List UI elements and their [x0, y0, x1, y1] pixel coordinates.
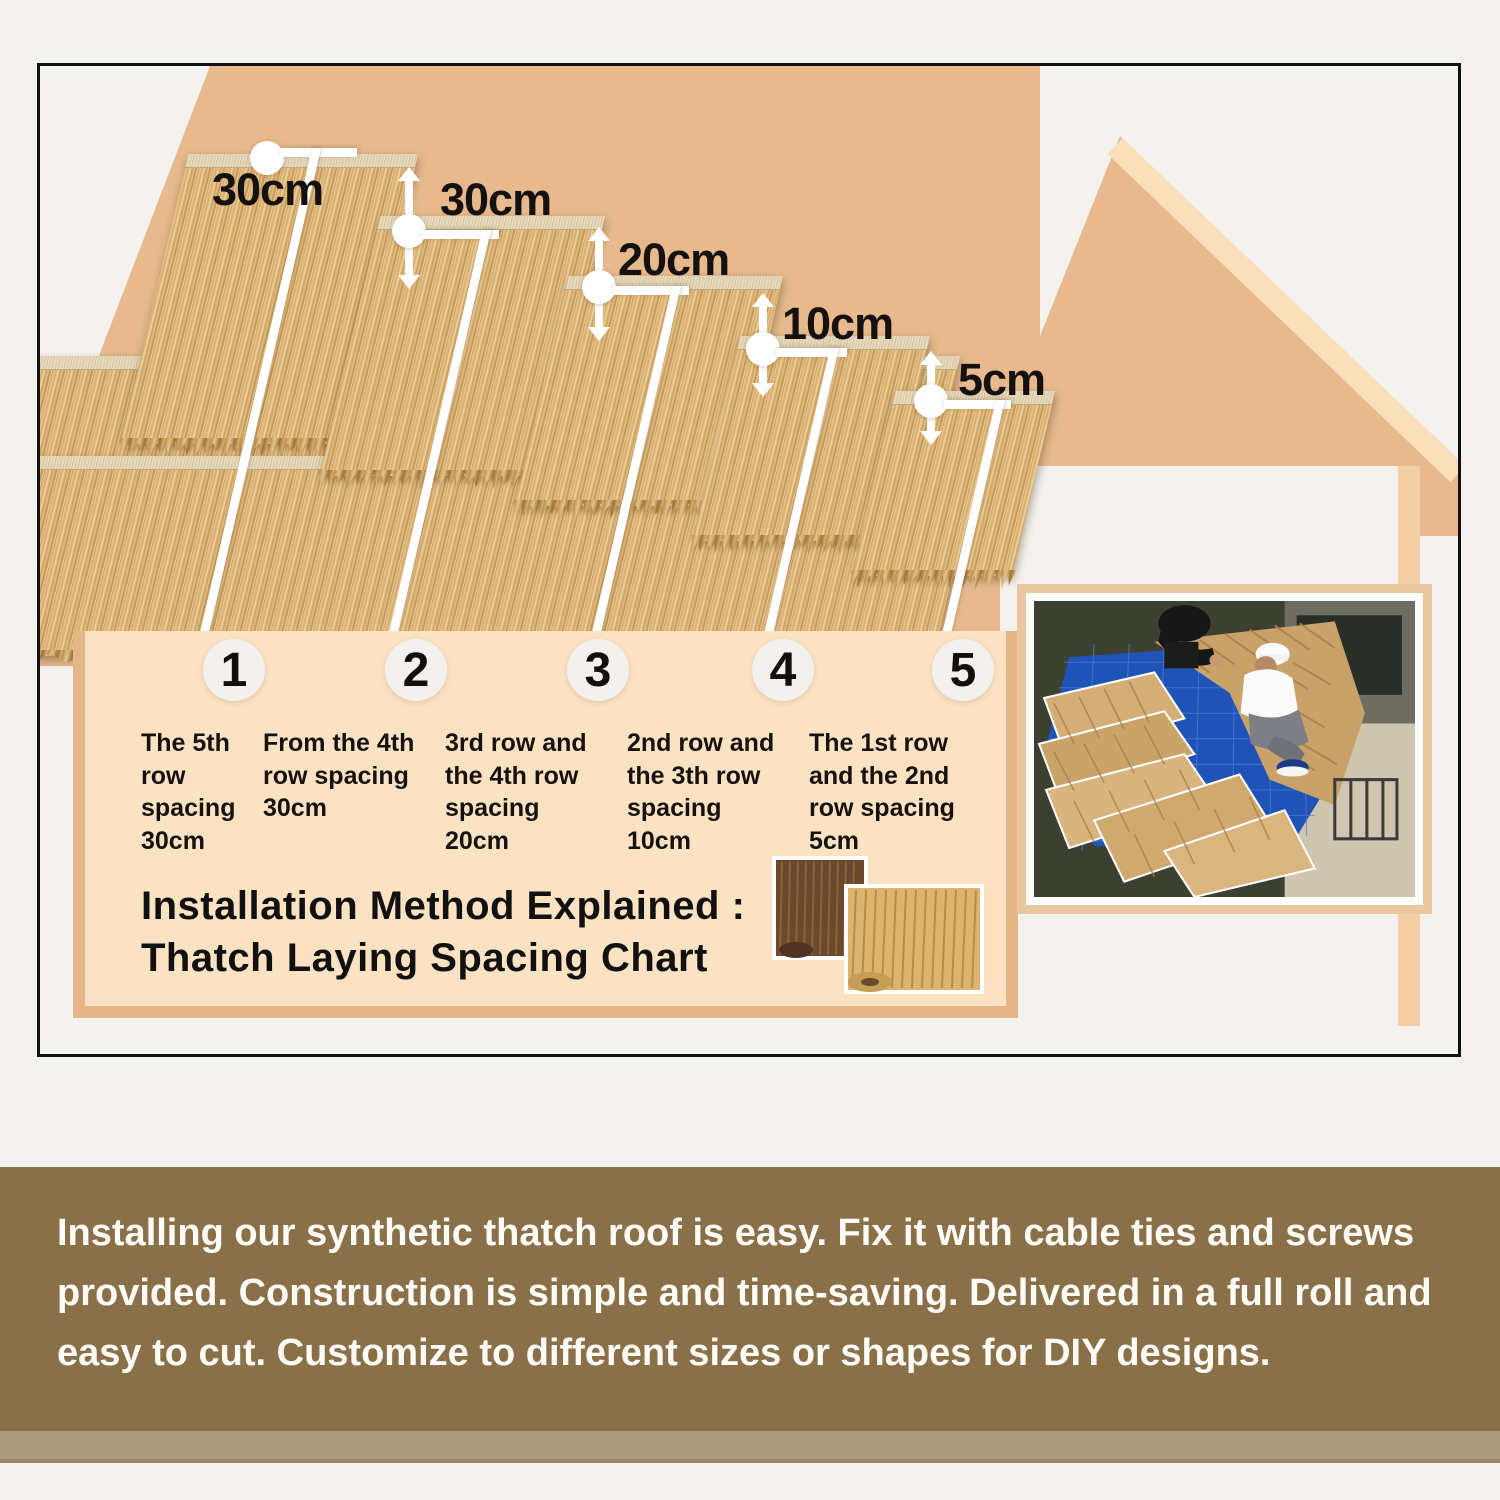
caption-line: From the 4th [263, 727, 431, 760]
step-bubble-2: 2 [385, 639, 447, 701]
step-number-row: 1 2 3 4 5 [85, 639, 1006, 719]
banner-footer-strip [0, 1431, 1500, 1463]
bottom-banner: Installing our synthetic thatch roof is … [0, 1167, 1500, 1431]
caption-line: 30cm [263, 792, 431, 825]
caption-line: and the 2nd [809, 760, 977, 793]
panel-title: Installation Method Explained : Thatch L… [141, 880, 745, 984]
infographic-frame: 30cm 30cm 20cm 10cm [37, 63, 1461, 1057]
thatch-roll-product-graphic [766, 850, 996, 1000]
panel-title-line-1: Installation Method Explained : [141, 880, 745, 932]
caption-line: The 1st row [809, 727, 977, 760]
step-caption-columns: The 5th row spacing 30cm From the 4th ro… [85, 727, 1006, 857]
step-bubble-3: 3 [567, 639, 629, 701]
caption-line: row spacing [263, 760, 431, 793]
caption-line: 3rd row and [445, 727, 613, 760]
caption-line: spacing [141, 792, 249, 825]
step-bubble-1: 1 [203, 639, 265, 701]
caption-line: spacing [627, 792, 795, 825]
photo-image [1034, 601, 1415, 897]
step-caption-4: 2nd row and the 3th row spacing 10cm [627, 727, 809, 857]
photo-mat [1026, 593, 1423, 905]
installation-photo-inset [1017, 584, 1432, 914]
step-caption-5: The 1st row and the 2nd row spacing 5cm [809, 727, 991, 857]
caption-line: The 5th row [141, 727, 249, 792]
caption-line: the 4th row [445, 760, 613, 793]
caption-line: row spacing [809, 792, 977, 825]
step-caption-2: From the 4th row spacing 30cm [263, 727, 445, 857]
step-bubble-5: 5 [932, 639, 994, 701]
caption-line: spacing [445, 792, 613, 825]
caption-line: 30cm [141, 825, 249, 858]
callout-label: 5cm [958, 354, 1045, 406]
caption-panel: 1 2 3 4 5 The 5th row spacing 30cm From … [73, 631, 1018, 1018]
step-bubble-4: 4 [752, 639, 814, 701]
caption-line: 2nd row and [627, 727, 795, 760]
panel-title-line-2: Thatch Laying Spacing Chart [141, 932, 745, 984]
callout-dot [914, 384, 948, 418]
banner-text: Installing our synthetic thatch roof is … [57, 1203, 1447, 1383]
caption-line: 20cm [445, 825, 613, 858]
step-caption-3: 3rd row and the 4th row spacing 20cm [445, 727, 627, 857]
step-caption-1: The 5th row spacing 30cm [85, 727, 263, 857]
caption-line: the 3th row [627, 760, 795, 793]
